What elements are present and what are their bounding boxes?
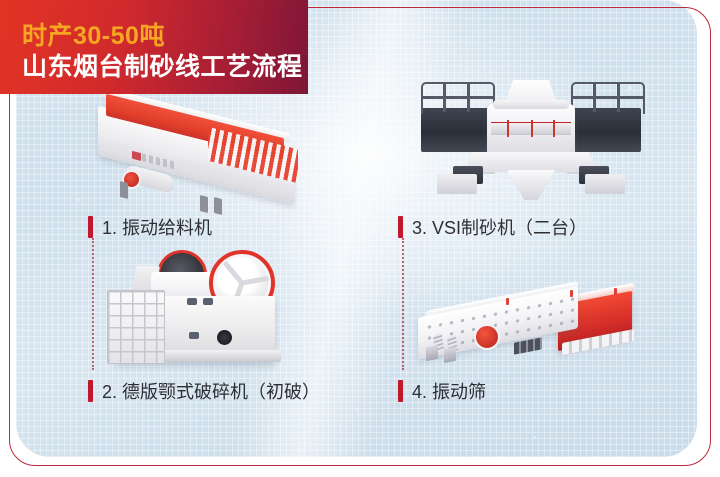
process-flow-infographic: 时产30-50吨 山东烟台制砂线工艺流程 1. 振动给料机: [0, 0, 720, 477]
machine-image-vsi-sand-maker: [415, 78, 645, 208]
label-item-2: 2. 德版颚式破碎机（初破）: [88, 378, 320, 404]
machine-image-vibrating-feeder: [90, 108, 320, 208]
label-item-4-text: 4. 振动筛: [412, 378, 486, 404]
label-item-3-text: 3. VSI制砂机（二台）: [412, 214, 587, 240]
marker-bar-icon: [88, 380, 93, 402]
header-banner: 时产30-50吨 山东烟台制砂线工艺流程: [0, 0, 308, 94]
label-item-3: 3. VSI制砂机（二台）: [398, 214, 587, 240]
label-item-1: 1. 振动给料机: [88, 214, 212, 240]
marker-bar-icon: [398, 380, 403, 402]
connector-right: [402, 238, 404, 370]
marker-bar-icon: [88, 216, 93, 238]
machine-image-vibrating-screen: [418, 284, 643, 368]
connector-left: [92, 238, 94, 370]
banner-title-line2: 山东烟台制砂线工艺流程: [22, 47, 303, 83]
label-item-2-text: 2. 德版颚式破碎机（初破）: [102, 378, 320, 404]
label-item-1-text: 1. 振动给料机: [102, 214, 212, 240]
machine-image-jaw-crusher: [105, 250, 295, 370]
marker-bar-icon: [398, 216, 403, 238]
label-item-4: 4. 振动筛: [398, 378, 486, 404]
